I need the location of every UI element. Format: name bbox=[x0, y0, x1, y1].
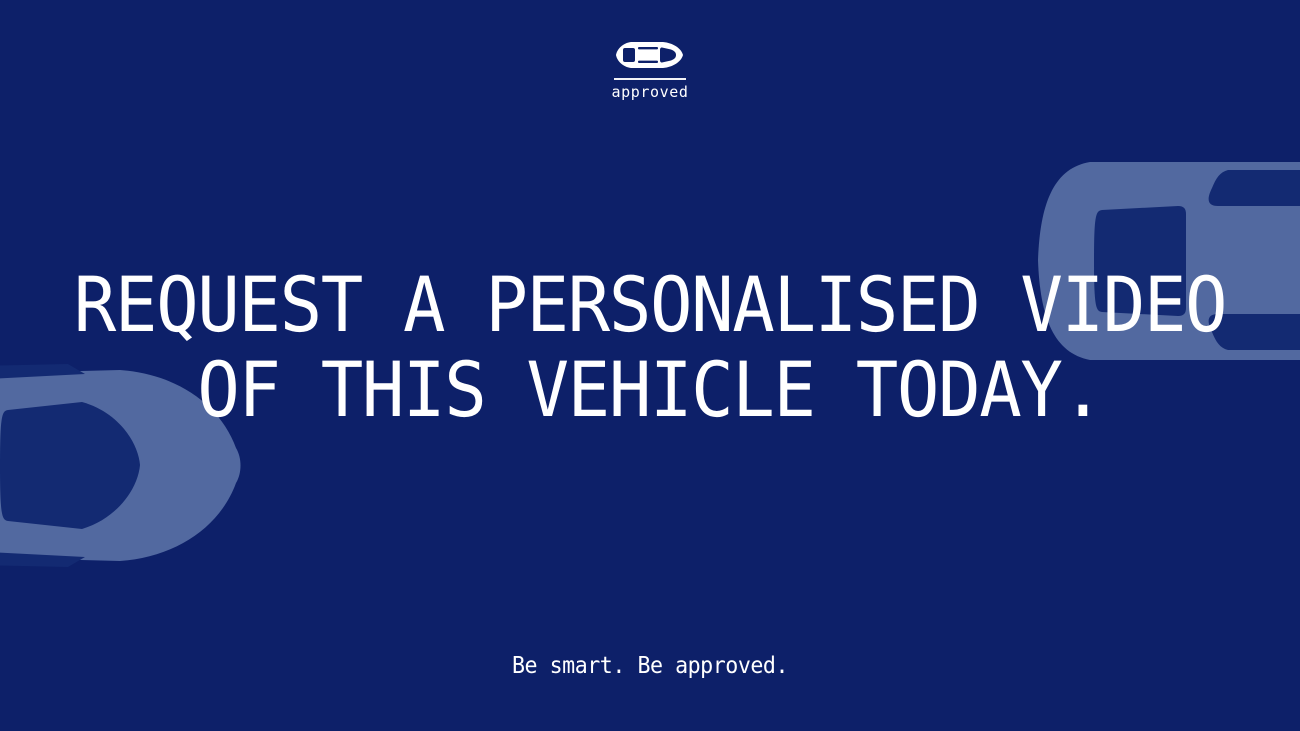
headline: REQUEST A PERSONALISED VIDEO OF THIS VEH… bbox=[46, 262, 1255, 432]
brand-divider bbox=[614, 78, 686, 80]
brand-wordmark: approved bbox=[611, 85, 688, 100]
headline-line-2: OF THIS VEHICLE TODAY. bbox=[46, 347, 1255, 432]
promo-slide: approved REQUEST A PERSONALISED VIDEO OF… bbox=[0, 0, 1300, 731]
tagline: Be smart. Be approved. bbox=[39, 655, 1261, 678]
car-top-view-icon bbox=[615, 40, 685, 70]
headline-line-1: REQUEST A PERSONALISED VIDEO bbox=[46, 262, 1255, 347]
brand-logo: approved bbox=[0, 40, 1300, 100]
